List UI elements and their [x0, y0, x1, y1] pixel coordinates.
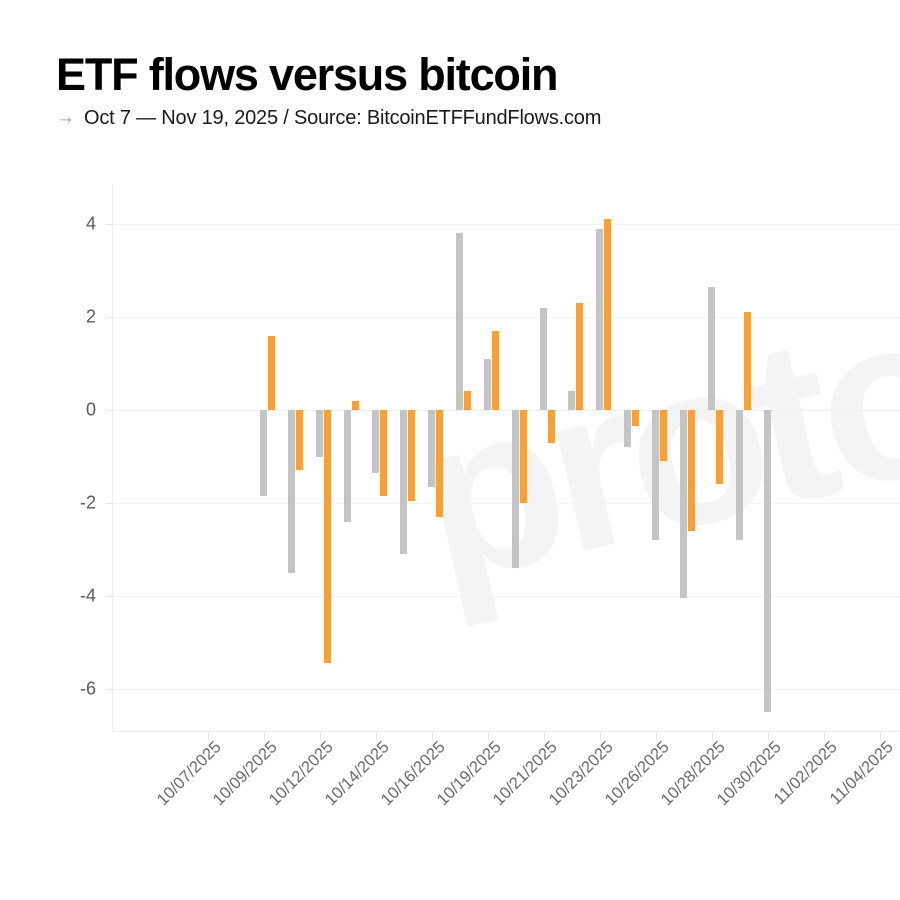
bar-orange-10/27/2025: [604, 219, 611, 410]
bar-orange-10/20/2025: [464, 391, 471, 410]
x-tick-mark: [880, 731, 881, 738]
plot-canvas: [112, 185, 900, 731]
bar-orange-11/03/2025: [744, 312, 751, 410]
x-tick-mark: [264, 731, 265, 738]
x-tick-mark: [544, 731, 545, 738]
bar-orange-10/21/2025: [492, 331, 499, 410]
bar-gray-10/30/2025: [680, 410, 687, 598]
y-tick-label: 4: [50, 214, 96, 235]
gridline-2: [112, 317, 900, 318]
chart-page: protos ETF flows versus bitcoin → Oct 7 …: [0, 0, 900, 900]
bar-orange-10/14/2025: [352, 401, 359, 410]
bar-orange-10/29/2025: [660, 410, 667, 461]
bar-gray-10/17/2025: [428, 410, 435, 487]
bar-gray-10/16/2025: [400, 410, 407, 554]
y-tick-label: -6: [50, 679, 96, 700]
bar-orange-10/30/2025: [688, 410, 695, 531]
bar-orange-10/22/2025: [520, 410, 527, 503]
bar-gray-10/31/2025: [708, 287, 715, 410]
bar-orange-10/13/2025: [324, 410, 331, 663]
x-tick-mark: [600, 731, 601, 738]
gridline-0: [112, 410, 900, 411]
bar-gray-10/09/2025: [260, 410, 267, 496]
bar-orange-10/16/2025: [408, 410, 415, 501]
x-tick-mark: [208, 731, 209, 738]
y-tick-label: 2: [50, 307, 96, 328]
bar-gray-11/04/2025: [764, 410, 771, 712]
bar-gray-11/03/2025: [736, 410, 743, 540]
bar-orange-10/15/2025: [380, 410, 387, 496]
y-tick-label: -2: [50, 493, 96, 514]
x-tick-mark: [488, 731, 489, 738]
gridline--4: [112, 596, 900, 597]
bar-gray-10/21/2025: [484, 359, 491, 410]
bar-gray-10/27/2025: [596, 229, 603, 410]
bar-gray-10/15/2025: [372, 410, 379, 473]
y-tick-label: -4: [50, 586, 96, 607]
x-tick-mark: [432, 731, 433, 738]
x-tick-mark: [712, 731, 713, 738]
bar-orange-10/31/2025: [716, 410, 723, 484]
gridline--6: [112, 689, 900, 690]
bar-gray-10/14/2025: [344, 410, 351, 522]
bar-gray-10/24/2025: [568, 391, 575, 410]
bar-gray-10/29/2025: [652, 410, 659, 540]
chart-area: 420-2-4-6 10/07/202510/09/202510/12/2025…: [0, 0, 900, 900]
gridline-4: [112, 224, 900, 225]
y-tick-label: 0: [50, 400, 96, 421]
bar-orange-10/10/2025: [296, 410, 303, 470]
x-tick-mark: [824, 731, 825, 738]
bar-orange-10/28/2025: [632, 410, 639, 426]
x-axis-line: [112, 731, 900, 732]
bar-orange-10/09/2025: [268, 336, 275, 410]
bar-gray-10/20/2025: [456, 233, 463, 410]
x-tick-mark: [768, 731, 769, 738]
bar-gray-10/23/2025: [540, 308, 547, 410]
bar-gray-10/22/2025: [512, 410, 519, 568]
bar-gray-10/13/2025: [316, 410, 323, 457]
x-tick-mark: [656, 731, 657, 738]
bar-orange-10/17/2025: [436, 410, 443, 517]
bar-gray-10/28/2025: [624, 410, 631, 447]
x-tick-mark: [376, 731, 377, 738]
bar-orange-10/24/2025: [576, 303, 583, 410]
gridline--2: [112, 503, 900, 504]
x-tick-mark: [320, 731, 321, 738]
bar-orange-10/23/2025: [548, 410, 555, 443]
bar-gray-10/10/2025: [288, 410, 295, 573]
